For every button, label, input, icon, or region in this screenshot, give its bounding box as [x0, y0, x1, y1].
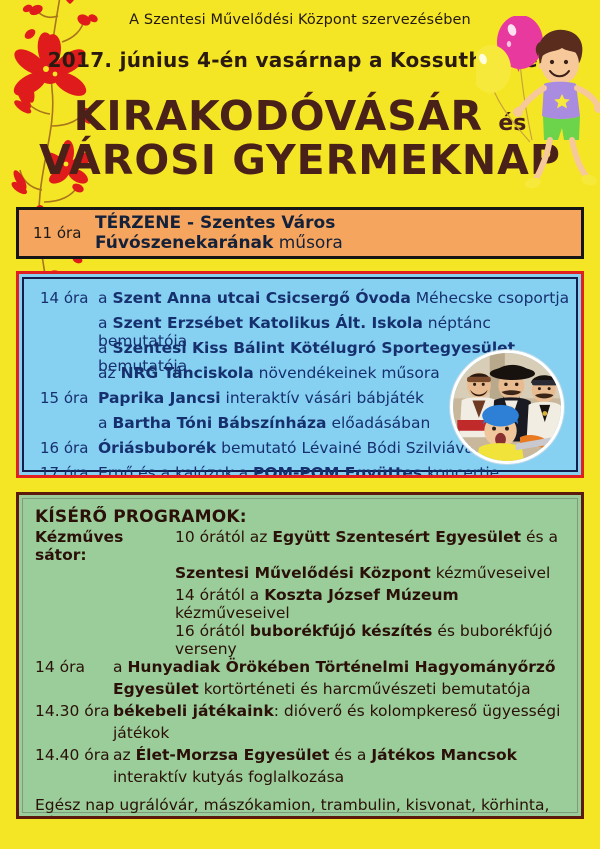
- program-row-highlight: Bartha Tóni Bábszínháza: [112, 414, 326, 432]
- accompanying-row-highlight: Egyesület: [113, 680, 199, 698]
- program-row-prefix: a: [98, 414, 112, 432]
- program-row-hour: 15 óra: [40, 389, 98, 407]
- program-row-highlight: POM-POM Együttes: [253, 464, 422, 478]
- program-row-text: az NRG Tánciskola növendékeinek műsora: [98, 364, 440, 382]
- accompanying-row-text: 16 órától buborékfújó készítés és buboré…: [175, 622, 567, 658]
- program-row-prefix: az: [98, 364, 121, 382]
- accompanying-row-prefix: 14 órától a: [175, 586, 264, 604]
- accompanying-row-text: 10 órától az Együtt Szentesért Egyesület…: [175, 528, 558, 546]
- accompanying-row-highlight: Hunyadiak Örökében Történelmi Hagyományő…: [127, 658, 555, 676]
- accompanying-row-suffix: : dióverő és kolompkereső ügyességi: [274, 702, 561, 720]
- accompanying-row: 14 órától a Koszta József Múzeum kézműve…: [35, 586, 567, 622]
- accompanying-row-highlight: Koszta József Múzeum: [264, 586, 458, 604]
- accompanying-row-suffix: kézműveseivel: [431, 564, 551, 582]
- program-row-highlight: Szentesi Kiss Bálint Kötélugró Sportegye…: [112, 339, 515, 357]
- allday-line-1: Egész nap ugrálóvár, mászókamion, trambu…: [35, 796, 567, 819]
- accompanying-row: játékok: [35, 724, 567, 746]
- poster-root: A Szentesi Művelődési Központ szervezésé…: [0, 0, 600, 849]
- terzene-plain-text: műsora: [279, 233, 343, 253]
- program-row-suffix: koncertje: [422, 464, 499, 478]
- accompanying-row-suffix: kézműveseivel: [175, 604, 290, 622]
- program-row-suffix: növendékeinek műsora: [254, 364, 440, 382]
- program-row-hour: 14 óra: [40, 289, 98, 307]
- accompanying-row-highlight: buborékfújó készítés: [250, 622, 433, 640]
- accompanying-row-highlight: Élet-Morzsa Egyesület: [136, 746, 330, 764]
- pom-pom-pirates-photo: [450, 350, 564, 464]
- program-row-text: Ernő és a kalózok a POM-POM Együttes kon…: [98, 464, 499, 478]
- program-row-hour: 16 óra: [40, 439, 98, 457]
- accompanying-row-highlight: békebeli játékaink: [113, 702, 274, 720]
- program-row: 14 óraa Szent Anna utcai Csicsergő Óvoda…: [24, 289, 576, 314]
- program-row-text: Óriásbuborék bemutató Lévainé Bódi Szilv…: [98, 439, 478, 457]
- accompanying-row: interaktív kutyás foglalkozása: [35, 768, 567, 790]
- accompanying-row: 16 órától buborékfújó készítés és buboré…: [35, 622, 567, 658]
- accompanying-row-text: Szentesi Művelődési Központ kézműveseive…: [175, 564, 550, 582]
- program-row-prefix: a: [98, 289, 112, 307]
- accompanying-row-text: a Hunyadiak Örökében Történelmi Hagyomán…: [113, 658, 556, 676]
- boy-with-balloons-icon: [476, 16, 600, 206]
- accompanying-row-prefix: az: [113, 746, 136, 764]
- accompanying-row-text: Egyesület kortörténeti és harcművészeti …: [113, 680, 531, 698]
- program-row: 17 óraErnő és a kalózok a POM-POM Együtt…: [24, 464, 576, 478]
- terzene-band: 11 óra TÉRZENE - Szentes Város Fúvószene…: [16, 207, 584, 259]
- accompanying-row: Szentesi Művelődési Központ kézműveseive…: [35, 564, 567, 586]
- main-program-box: 14 óraa Szent Anna utcai Csicsergő Óvoda…: [16, 271, 584, 478]
- program-row-prefix: a: [98, 339, 112, 357]
- accompanying-row-text: az Élet-Morzsa Egyesület és a Játékos Ma…: [113, 746, 517, 764]
- accompanying-row: 14 óraa Hunyadiak Örökében Történelmi Ha…: [35, 658, 567, 680]
- accompanying-row-suffix: és a: [329, 746, 371, 764]
- accompanying-row-text: játékok: [113, 724, 169, 742]
- title-main-text: KIRAKODÓVÁSÁR: [74, 92, 483, 140]
- accompanying-row-prefix: játékok: [113, 724, 169, 742]
- program-row-highlight: Szent Anna utcai Csicsergő Óvoda: [112, 289, 410, 307]
- accompanying-programs-title: KÍSÉRŐ PROGRAMOK:: [35, 507, 567, 527]
- accompanying-row: 14.30 órabékebeli játékaink: dióverő és …: [35, 702, 567, 724]
- program-row-suffix: bemutató Lévainé Bódi Szilviával: [216, 439, 478, 457]
- program-row-highlight: Óriásbuborék: [98, 439, 216, 457]
- program-row-prefix: Ernő és a kalózok a: [98, 464, 253, 478]
- accompanying-row-prefix: 16 órától: [175, 622, 250, 640]
- accompanying-row-prefix: interaktív kutyás foglalkozása: [113, 768, 344, 786]
- accompanying-row: Kézműves sátor:10 órától az Együtt Szent…: [35, 528, 567, 564]
- terzene-hour: 11 óra: [33, 224, 95, 242]
- accompanying-row-text: 14 órától a Koszta József Múzeum kézműve…: [175, 586, 567, 622]
- program-row-highlight: NRG Tánciskola: [121, 364, 254, 382]
- accompanying-row-text: békebeli játékaink: dióverő és kolompker…: [113, 702, 560, 720]
- accompanying-row-hour: 14.40 óra: [35, 746, 113, 764]
- kezmuves-sator-label: Kézműves sátor:: [35, 528, 175, 564]
- program-row-text: a Bartha Tóni Bábszínháza előadásában: [98, 414, 430, 432]
- accompanying-row-hour: 14 óra: [35, 658, 113, 676]
- program-row: a Szent Erzsébet Katolikus Ált. Iskola n…: [24, 314, 576, 339]
- accompanying-row-suffix: és a: [521, 528, 558, 546]
- program-row-highlight: Paprika Jancsi: [98, 389, 221, 407]
- main-program-inner: 14 óraa Szent Anna utcai Csicsergő Óvoda…: [22, 277, 578, 472]
- accompanying-row: Egyesület kortörténeti és harcművészeti …: [35, 680, 567, 702]
- accompanying-row-highlight-2: Játékos Mancsok: [371, 746, 517, 764]
- terzene-text: TÉRZENE - Szentes Város Fúvószenekarának…: [95, 213, 581, 253]
- accompanying-row-highlight: Együtt Szentesért Egyesület: [272, 528, 521, 546]
- program-row-highlight: Szent Erzsébet Katolikus Ált. Iskola: [112, 314, 422, 332]
- accompanying-programs-box: KÍSÉRŐ PROGRAMOK: Kézműves sátor:10 órát…: [16, 492, 584, 819]
- program-row-prefix: a: [98, 314, 112, 332]
- accompanying-row-prefix: 10 órától az: [175, 528, 272, 546]
- program-row-hour: 17 óra: [40, 464, 98, 478]
- program-row-text: Paprika Jancsi interaktív vásári bábjáté…: [98, 389, 424, 407]
- accompanying-row-text: interaktív kutyás foglalkozása: [113, 768, 344, 786]
- program-row-suffix: interaktív vásári bábjáték: [221, 389, 424, 407]
- program-row-text: a Szent Anna utcai Csicsergő Óvoda Méhec…: [98, 289, 569, 307]
- accompanying-row-prefix: a: [113, 658, 127, 676]
- accompanying-row-highlight: Szentesi Művelődési Központ: [175, 564, 431, 582]
- accompanying-row-suffix: kortörténeti és harcművészeti bemutatója: [199, 680, 531, 698]
- program-row-suffix: Méhecske csoportja: [411, 289, 569, 307]
- accompanying-row: 14.40 óraaz Élet-Morzsa Egyesület és a J…: [35, 746, 567, 768]
- program-row-suffix: előadásában: [327, 414, 431, 432]
- accompanying-programs-inner: KÍSÉRŐ PROGRAMOK: Kézműves sátor:10 órát…: [22, 498, 578, 813]
- accompanying-row-hour: 14.30 óra: [35, 702, 113, 720]
- accompanying-row-list: Kézműves sátor:10 órától az Együtt Szent…: [35, 528, 567, 790]
